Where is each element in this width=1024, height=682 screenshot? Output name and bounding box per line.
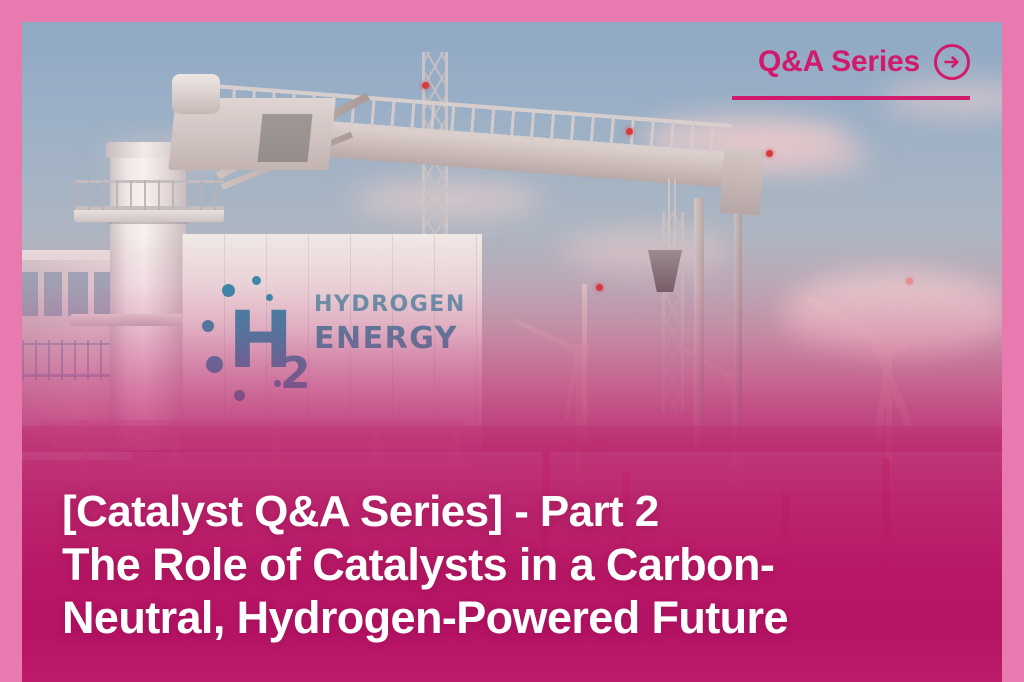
headline-line-2: The Role of Catalysts in a Carbon- [62,538,788,591]
banner-image-area: H 2 HYDROGEN ENERGY [22,22,1002,682]
arrow-right-circle-icon[interactable] [934,44,970,80]
qa-series-underline [732,96,970,100]
headline-line-3: Neutral, Hydrogen-Powered Future [62,591,788,644]
promo-banner: H 2 HYDROGEN ENERGY [0,0,1024,682]
headline-line-1: [Catalyst Q&A Series] - Part 2 [62,485,788,538]
qa-series-row[interactable]: Q&A Series [758,44,970,80]
page-title: [Catalyst Q&A Series] - Part 2 The Role … [62,485,788,644]
qa-series-link[interactable]: Q&A Series [732,44,970,100]
qa-series-label: Q&A Series [758,45,920,79]
